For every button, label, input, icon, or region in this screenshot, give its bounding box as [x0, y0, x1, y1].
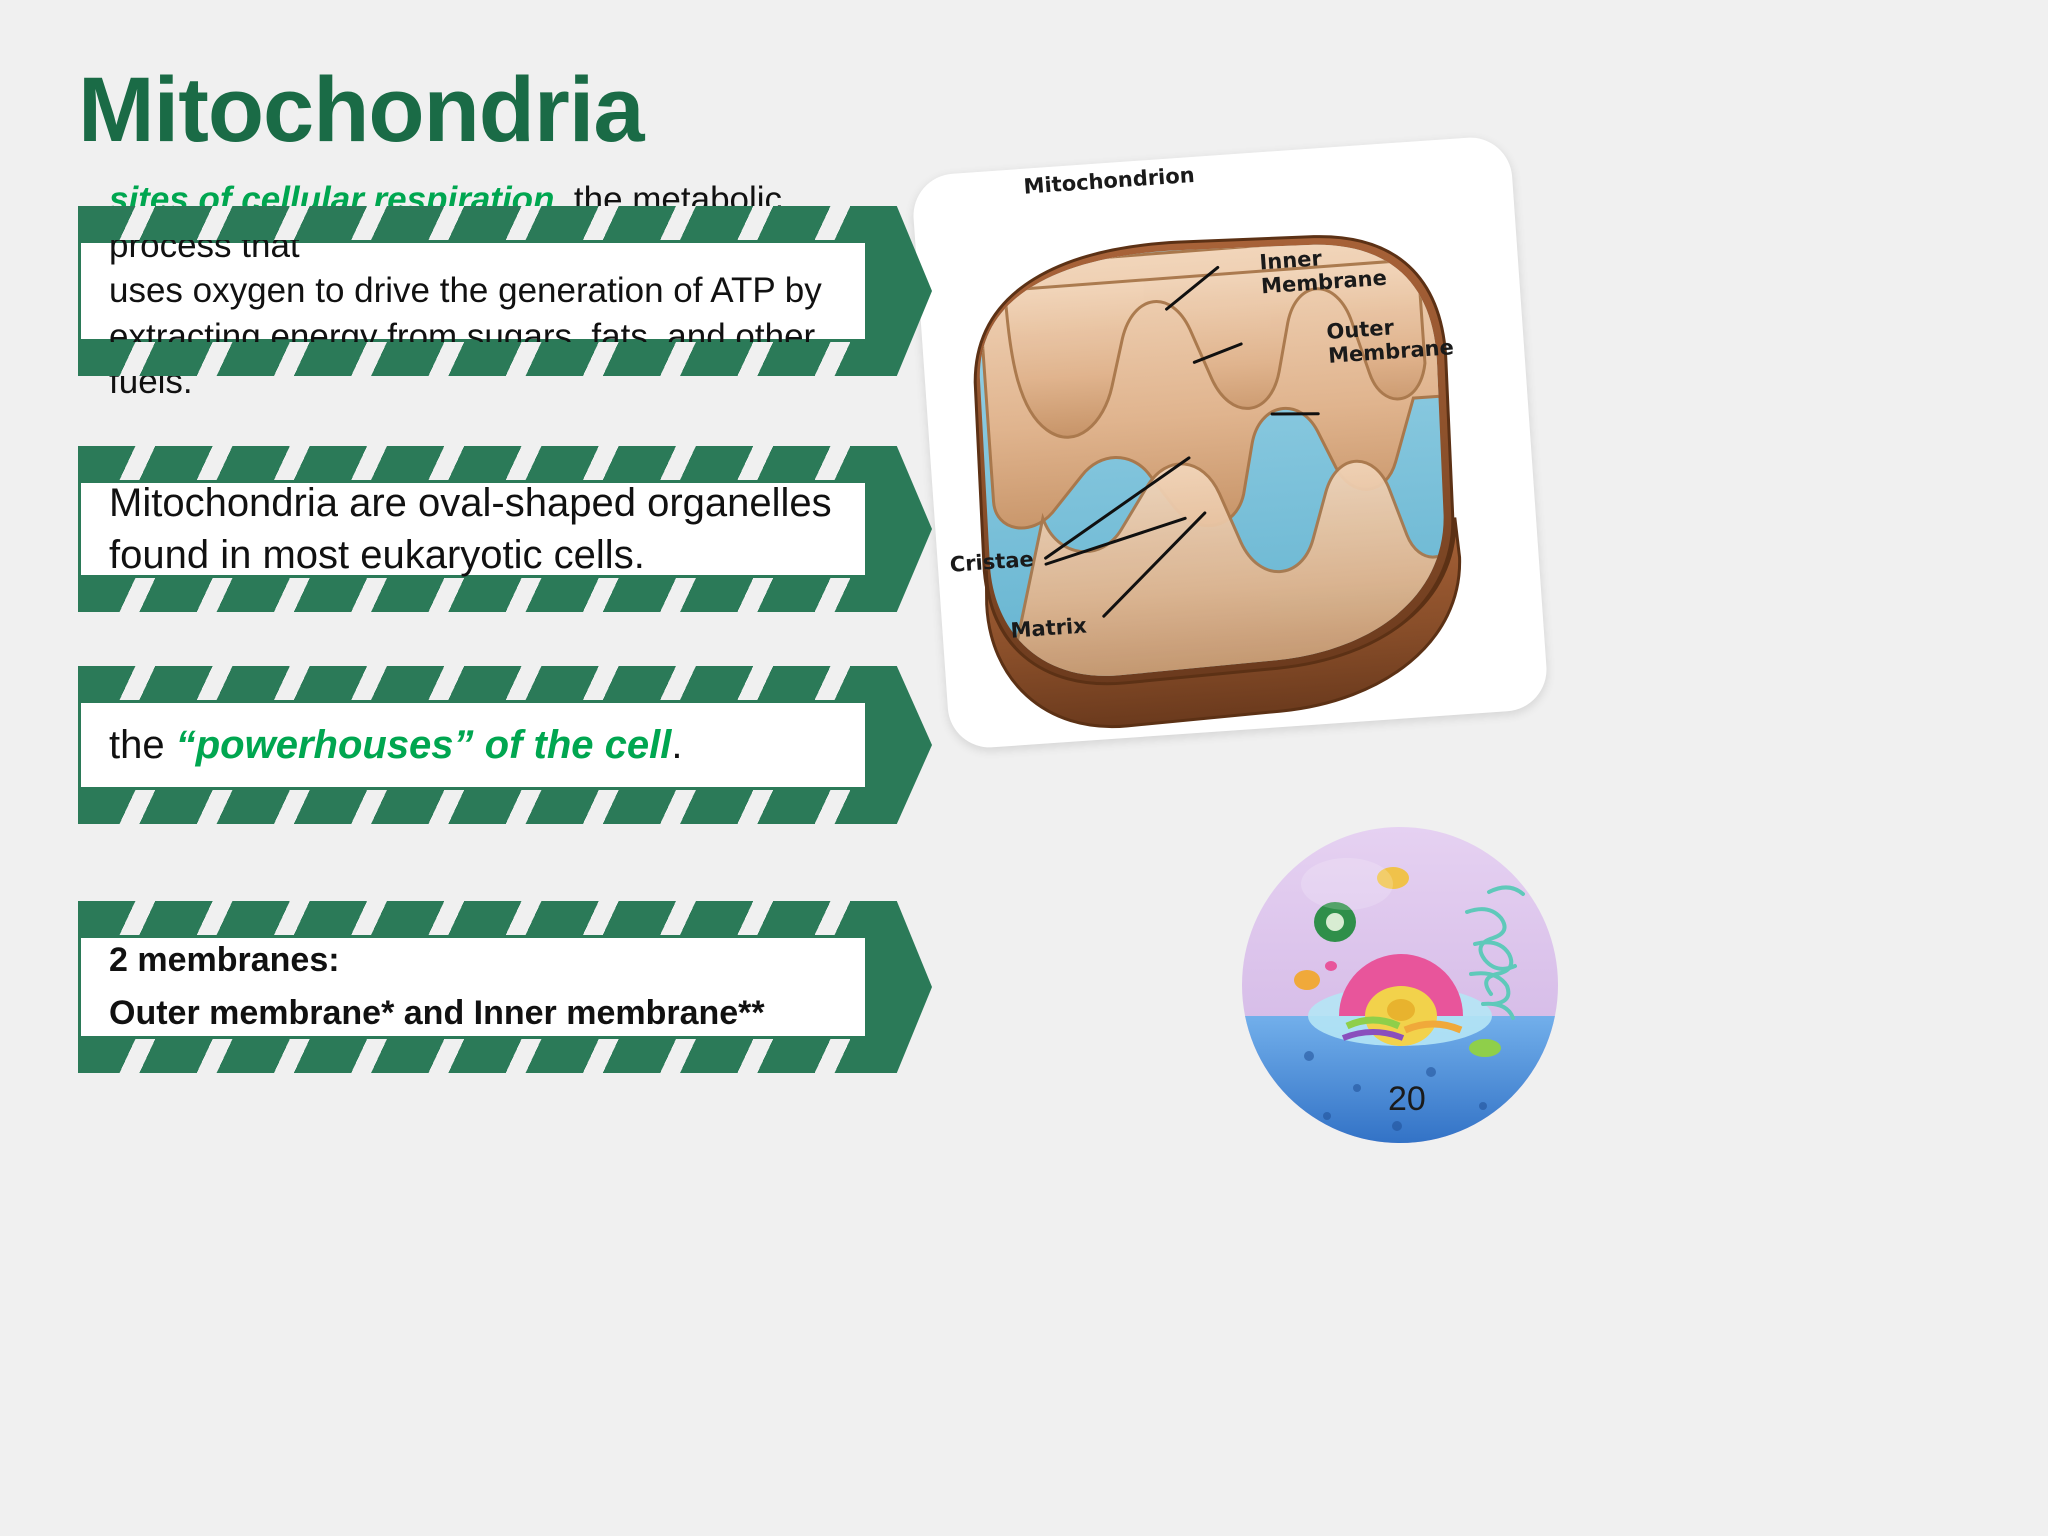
callout-line: found in most eukaryotic cells. [109, 529, 837, 581]
callout-line: 2 membranes: [109, 934, 837, 987]
mitochondrion-figure: Mitochondrion Inner Membrane Outer Membr… [911, 135, 1550, 750]
callout-two-membranes: 2 membranes: Outer membrane* and Inner m… [78, 935, 868, 1039]
callout-text: the “powerhouses” of the cell. [109, 719, 837, 771]
callout-text: 2 membranes: Outer membrane* and Inner m… [109, 934, 837, 1039]
slide-canvas: Mitochondria sites of cellular respirati… [0, 0, 2048, 1536]
callout-powerhouses: the “powerhouses” of the cell. [78, 700, 868, 790]
label-inner-membrane: Inner Membrane [1259, 242, 1388, 299]
emphasis-text: “powerhouses” of the cell [176, 723, 672, 767]
callout-line: uses oxygen to drive the generation of A… [109, 268, 837, 314]
callout-hatch-bottom [78, 1039, 868, 1073]
callout-hatch-bottom [78, 578, 868, 612]
plain-text: the [109, 723, 176, 767]
callout-body: 2 membranes: Outer membrane* and Inner m… [78, 935, 868, 1039]
callout-hatch-top [78, 666, 868, 700]
callout-hatch-top [78, 901, 868, 935]
page-title: Mitochondria [78, 62, 644, 159]
callout-hatch-bottom [78, 342, 868, 376]
callout-line: the “powerhouses” of the cell. [109, 719, 837, 771]
callout-oval-shaped-organelles: Mitochondria are oval-shaped organelles … [78, 480, 868, 578]
callout-cellular-respiration: sites of cellular respiration, the metab… [78, 240, 868, 342]
callout-body: sites of cellular respiration, the metab… [78, 240, 868, 342]
label-outer-membrane: Outer Membrane [1326, 311, 1455, 368]
callout-hatch-top [78, 446, 868, 480]
mitochondrion-cutaway-icon [911, 135, 1550, 750]
slide-number: 20 [1388, 1080, 1426, 1119]
callout-body: Mitochondria are oval-shaped organelles … [78, 480, 868, 578]
callout-line: Outer membrane* and Inner membrane** [109, 987, 837, 1040]
callout-line: Mitochondria are oval-shaped organelles [109, 477, 837, 529]
callout-hatch-bottom [78, 790, 868, 824]
callout-body: the “powerhouses” of the cell. [78, 700, 868, 790]
callout-hatch-top [78, 206, 868, 240]
callout-text: Mitochondria are oval-shaped organelles … [109, 477, 837, 581]
plain-text: . [671, 723, 682, 767]
callout-arrow-icon [868, 901, 932, 1073]
callout-arrow-icon [868, 446, 932, 612]
callout-arrow-icon [868, 666, 932, 824]
